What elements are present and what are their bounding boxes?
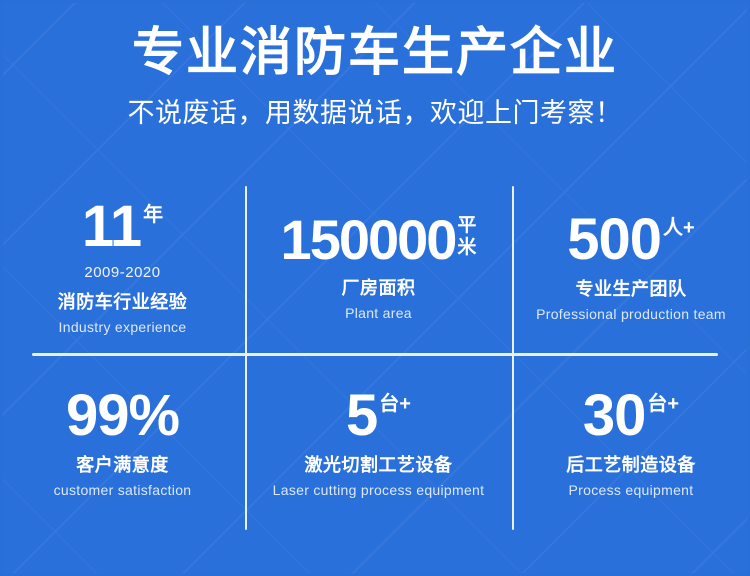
stat-cell-production-team: 500 人+ 专业生产团队 Professional production te… — [512, 186, 750, 354]
stat-cell-plant-area: 150000 平 米 厂房面积 Plant area — [245, 186, 512, 354]
stat-value: 99% — [66, 388, 179, 443]
stats-grid: 11 年 2009-2020 消防车行业经验 Industry experien… — [0, 186, 750, 530]
banner-edge-top — [0, 0, 750, 3]
stat-value: 500 — [567, 212, 661, 267]
stat-label-en: Industry experience — [59, 319, 187, 335]
stat-label-en: Professional production team — [536, 306, 726, 322]
stat-label-en: Process equipment — [569, 482, 694, 498]
stat-cell-industry-experience: 11 年 2009-2020 消防车行业经验 Industry experien… — [0, 186, 245, 354]
stat-value-row: 5 台+ — [346, 388, 411, 443]
stat-value: 150000 — [281, 213, 456, 266]
stat-value-row: 150000 平 米 — [281, 213, 477, 266]
promo-banner: 专业消防车生产企业 不说废话，用数据说话，欢迎上门考察！ 11 年 2009-2… — [0, 0, 750, 576]
stat-label-en: Plant area — [345, 305, 412, 321]
stat-value: 5 — [346, 388, 377, 443]
stat-unit-char-2: 米 — [457, 237, 476, 259]
stat-unit: 人+ — [663, 212, 695, 238]
stat-label-cn: 后工艺制造设备 — [566, 451, 696, 477]
stat-label-cn: 激光切割工艺设备 — [305, 451, 453, 477]
stat-label-cn: 客户满意度 — [76, 451, 169, 477]
stat-value: 11 — [82, 199, 141, 254]
stat-cell-laser-cutting-equipment: 5 台+ 激光切割工艺设备 Laser cutting process equi… — [245, 354, 512, 530]
stat-value: 30 — [583, 388, 646, 443]
page-title: 专业消防车生产企业 — [0, 22, 750, 84]
stat-label-cn: 消防车行业经验 — [58, 288, 188, 314]
grid-divider-vertical-right — [512, 186, 514, 530]
grid-divider-vertical-left — [245, 186, 247, 530]
grid-divider-horizontal — [32, 353, 718, 356]
stat-label-cn: 专业生产团队 — [576, 275, 687, 301]
stat-value-row: 99% — [66, 388, 179, 443]
stat-unit: 台+ — [647, 388, 679, 414]
stat-value-row: 500 人+ — [567, 212, 694, 267]
stat-unit: 平 米 — [457, 213, 476, 259]
stat-unit: 年 — [143, 199, 163, 225]
stat-unit: 台+ — [379, 388, 411, 414]
banner-header: 专业消防车生产企业 不说废话，用数据说话，欢迎上门考察！ — [0, 22, 750, 130]
stat-label-cn: 厂房面积 — [342, 274, 416, 300]
stat-unit-char-1: 平 — [457, 215, 476, 237]
stat-year-range: 2009-2020 — [84, 264, 160, 281]
stat-label-en: customer satisfaction — [54, 482, 192, 498]
stat-value-row: 30 台+ — [583, 388, 679, 443]
stat-cell-process-equipment: 30 台+ 后工艺制造设备 Process equipment — [512, 354, 750, 530]
stat-value-row: 11 年 — [82, 199, 163, 254]
page-subtitle: 不说废话，用数据说话，欢迎上门考察！ — [0, 96, 750, 130]
stat-cell-customer-satisfaction: 99% 客户满意度 customer satisfaction — [0, 354, 245, 530]
stat-label-en: Laser cutting process equipment — [273, 482, 485, 498]
